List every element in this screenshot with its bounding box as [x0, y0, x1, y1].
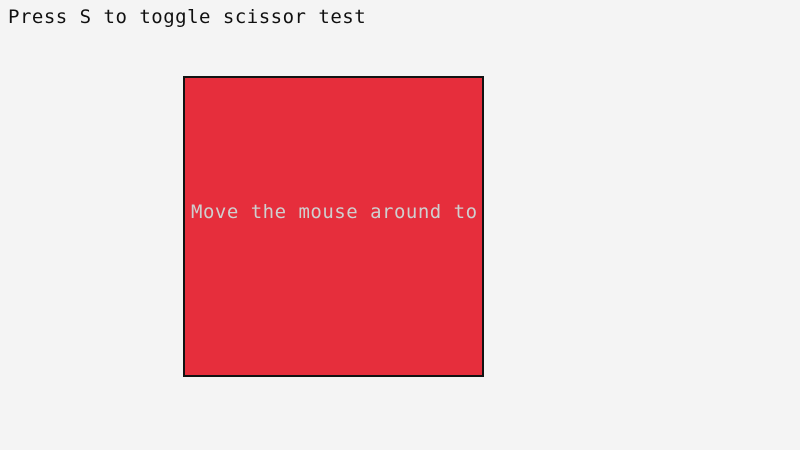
scissor-clipped-text: Move the mouse around to r [191, 200, 484, 224]
scissor-rectangle[interactable]: Move the mouse around to r [183, 76, 484, 377]
app-canvas: Press S to toggle scissor test Move the … [0, 0, 800, 450]
scissor-toggle-hint: Press S to toggle scissor test [8, 5, 366, 29]
